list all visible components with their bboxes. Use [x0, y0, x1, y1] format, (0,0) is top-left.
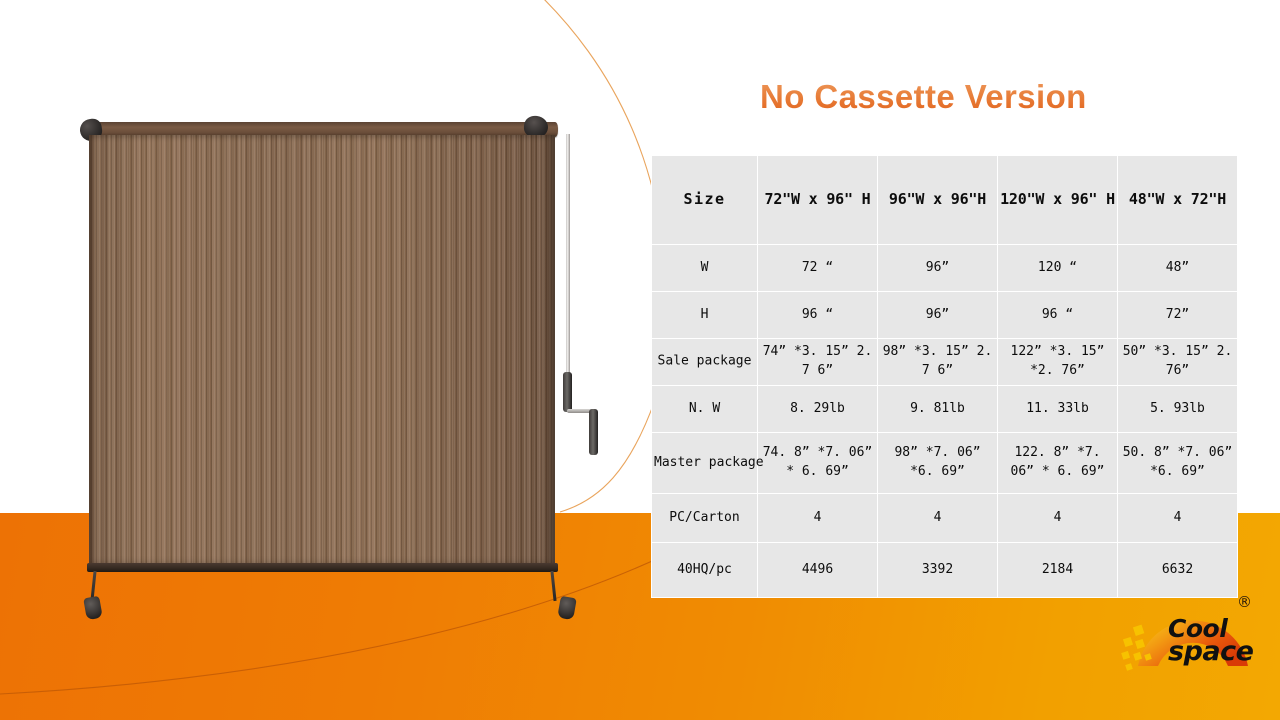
cell-w-1: 72 “: [758, 245, 877, 291]
shade-bottom-bar: [87, 563, 558, 572]
table-header-col-3: 120"W x 96" H: [998, 156, 1117, 244]
row-label-w: W: [652, 245, 757, 291]
table-row: W 72 “ 96” 120 “ 48”: [652, 245, 1237, 291]
cell-40hq-3: 2184: [998, 543, 1117, 597]
tie-down-cord-right: [550, 571, 556, 601]
cell-40hq-2: 3392: [878, 543, 997, 597]
table-row: 40HQ/pc 4496 3392 2184 6632: [652, 543, 1237, 597]
row-label-40hq-pc: 40HQ/pc: [652, 543, 757, 597]
cell-sale-3: 122” *3. 15” *2. 76”: [998, 339, 1117, 385]
cell-h-3: 96 “: [998, 292, 1117, 338]
table-header-col-4: 48"W x 72"H: [1118, 156, 1237, 244]
row-label-pc-carton: PC/Carton: [652, 494, 757, 542]
cell-nw-1: 8. 29lb: [758, 386, 877, 432]
cell-nw-2: 9. 81lb: [878, 386, 997, 432]
cell-h-1: 96 “: [758, 292, 877, 338]
table-row: PC/Carton 4 4 4 4: [652, 494, 1237, 542]
cell-w-4: 48”: [1118, 245, 1237, 291]
cell-sale-4: 50” *3. 15” 2. 76”: [1118, 339, 1237, 385]
table-row: H 96 “ 96” 96 “ 72”: [652, 292, 1237, 338]
cell-40hq-1: 4496: [758, 543, 877, 597]
registered-trademark-icon: ®: [1237, 593, 1252, 611]
slide-canvas: No Cassette Version Size 72"W x 96" H 96…: [0, 0, 1280, 720]
table-row: Master package 74. 8” *7. 06” * 6. 69” 9…: [652, 433, 1237, 493]
cell-sale-2: 98” *3. 15” 2. 7 6”: [878, 339, 997, 385]
crank-handle: [589, 409, 598, 455]
cell-pc-2: 4: [878, 494, 997, 542]
cell-sale-1: 74” *3. 15” 2. 7 6”: [758, 339, 877, 385]
cell-master-3: 122. 8” *7. 06” * 6. 69”: [998, 433, 1117, 493]
shade-fabric-left-shadow: [89, 135, 95, 567]
brand-logo: ® Cool space: [1110, 592, 1270, 682]
table-header-col-1: 72"W x 96" H: [758, 156, 877, 244]
table-header-size: Size: [652, 156, 757, 244]
shade-fabric-right-shadow: [543, 135, 555, 567]
table-row: Sale package 74” *3. 15” 2. 7 6” 98” *3.…: [652, 339, 1237, 385]
row-label-sale-package: Sale package: [652, 339, 757, 385]
page-title: No Cassette Version: [760, 78, 1087, 116]
cell-master-2: 98” *7. 06” *6. 69”: [878, 433, 997, 493]
table-row: N. W 8. 29lb 9. 81lb 11. 33lb 5. 93lb: [652, 386, 1237, 432]
row-label-net-weight: N. W: [652, 386, 757, 432]
cell-pc-3: 4: [998, 494, 1117, 542]
table-header-row: Size 72"W x 96" H 96"W x 96"H 120"W x 96…: [652, 156, 1237, 244]
logo-wordmark-line2: space: [1168, 640, 1253, 665]
cell-nw-3: 11. 33lb: [998, 386, 1117, 432]
cell-nw-4: 5. 93lb: [1118, 386, 1237, 432]
cell-40hq-4: 6632: [1118, 543, 1237, 597]
logo-wordmark: Cool space: [1168, 617, 1253, 665]
cell-h-4: 72”: [1118, 292, 1237, 338]
row-label-master-package: Master package: [652, 433, 757, 493]
specification-table: Size 72"W x 96" H 96"W x 96"H 120"W x 96…: [651, 155, 1238, 598]
row-label-sale-package-text: Sale package: [658, 353, 752, 372]
cell-pc-4: 4: [1118, 494, 1237, 542]
cell-w-3: 120 “: [998, 245, 1117, 291]
cell-h-2: 96”: [878, 292, 997, 338]
table-header-col-2: 96"W x 96"H: [878, 156, 997, 244]
crank-upper-grip: [563, 372, 572, 412]
product-image-roller-shade: [40, 112, 570, 612]
shade-fabric-panel: [89, 135, 555, 567]
row-label-h: H: [652, 292, 757, 338]
cell-pc-1: 4: [758, 494, 877, 542]
cell-master-4: 50. 8” *7. 06” *6. 69”: [1118, 433, 1237, 493]
cell-w-2: 96”: [878, 245, 997, 291]
crank-rod: [566, 134, 570, 399]
cell-master-1: 74. 8” *7. 06” * 6. 69”: [758, 433, 877, 493]
